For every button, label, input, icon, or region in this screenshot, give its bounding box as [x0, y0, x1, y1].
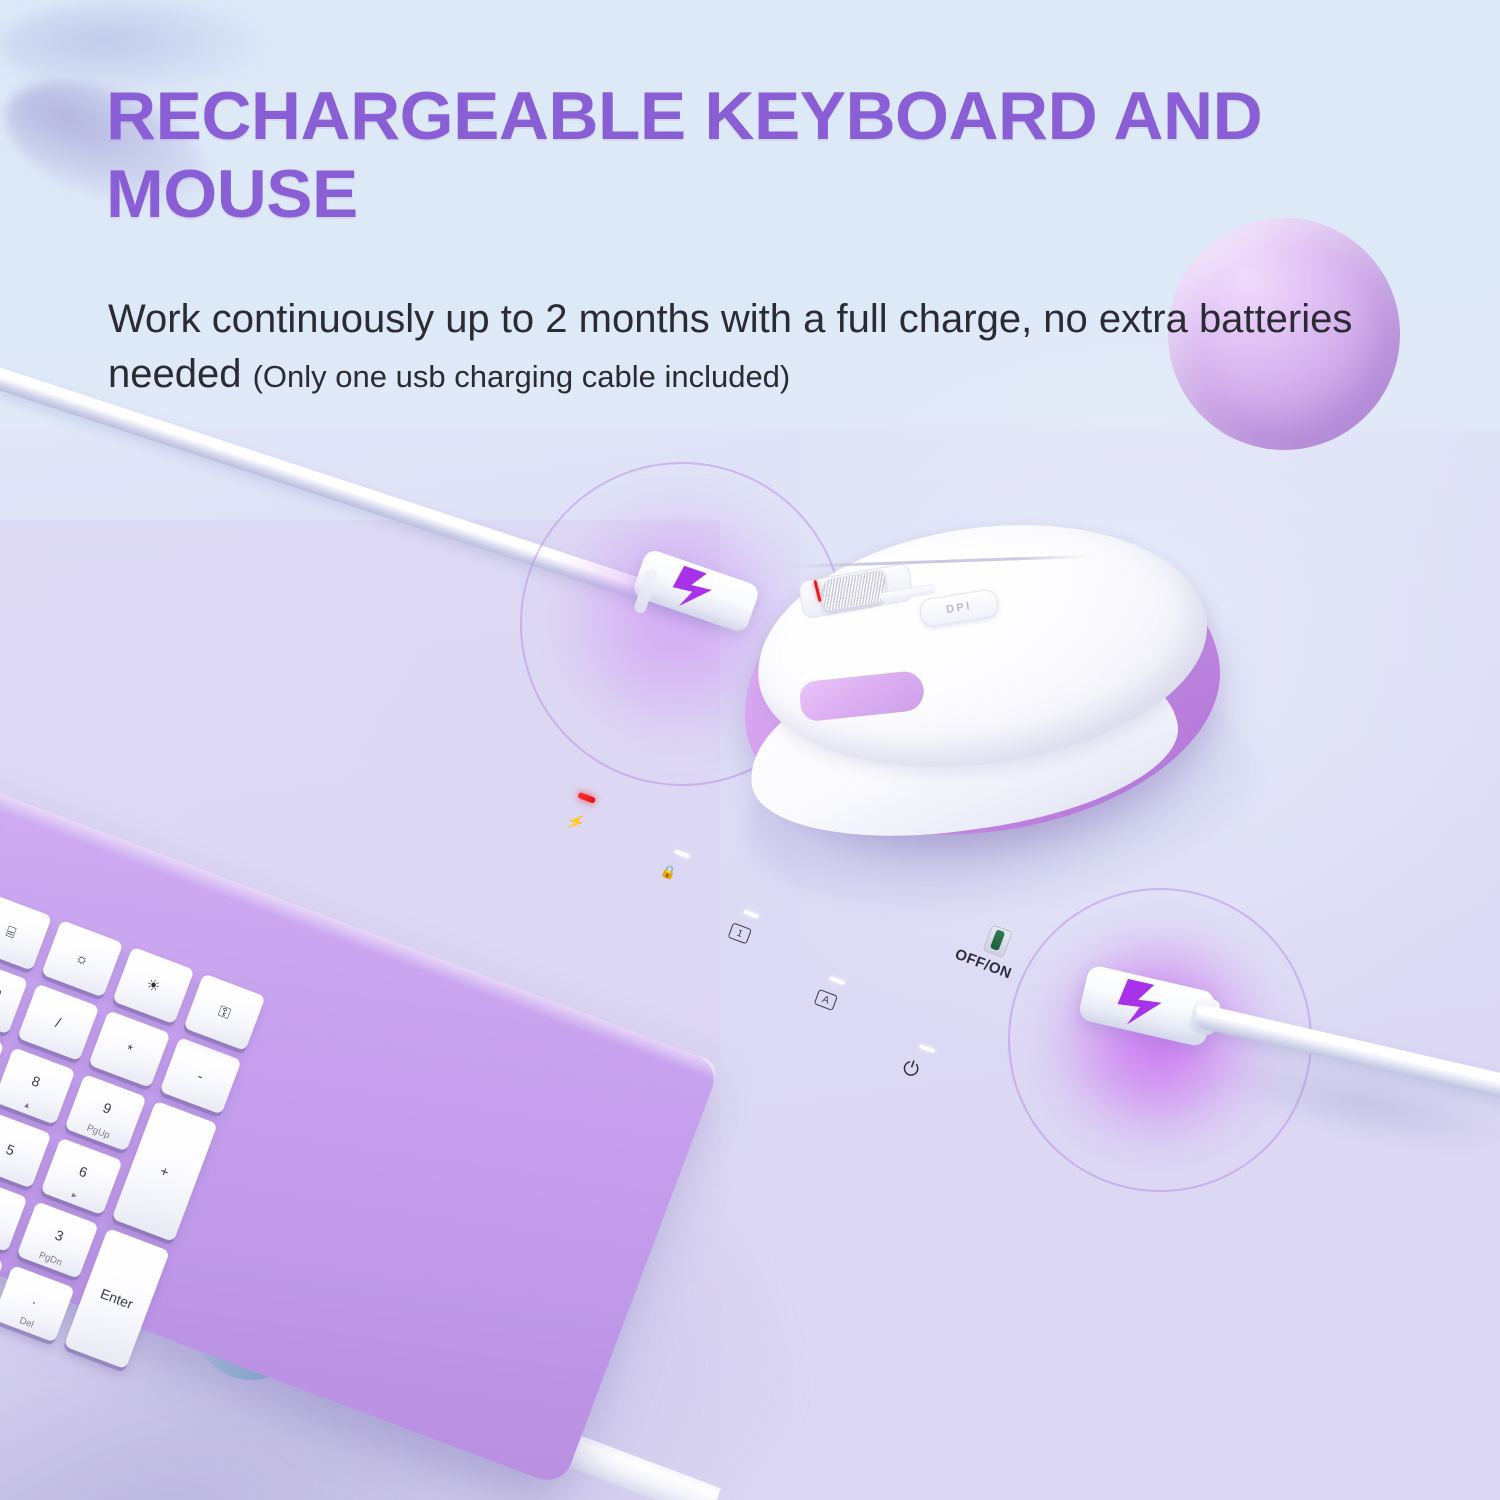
- key-bright-up[interactable]: ☼: [41, 920, 123, 998]
- key-label: *: [124, 1041, 134, 1057]
- key-n5[interactable]: 5: [0, 1111, 52, 1189]
- key-nminus[interactable]: -: [159, 1037, 241, 1115]
- key-n9[interactable]: 9PgUp: [64, 1074, 146, 1152]
- key-nstar[interactable]: *: [88, 1010, 170, 1088]
- key-nslash[interactable]: /: [17, 984, 99, 1062]
- key-label: 6: [77, 1163, 89, 1179]
- key-bright-dn[interactable]: ☀: [112, 947, 194, 1025]
- key-label: -: [196, 1068, 206, 1083]
- page-title: RECHARGEABLE KEYBOARD AND MOUSE: [106, 78, 1432, 233]
- key-calc[interactable]: ⌸: [0, 893, 52, 971]
- key-label: 5: [4, 1141, 16, 1157]
- key-label: Enter: [99, 1286, 135, 1312]
- product-banner: RECHARGEABLE KEYBOARD AND MOUSE Work con…: [0, 0, 1500, 1500]
- key-icon-bright-dn: ☀: [144, 975, 163, 997]
- key-label: /: [54, 1015, 63, 1030]
- key-lockscreen[interactable]: ⚿: [183, 973, 265, 1051]
- key-n3[interactable]: 3PgDn: [17, 1201, 99, 1279]
- key-label: 3: [53, 1227, 65, 1243]
- key-sublabel: ▾: [0, 1216, 12, 1250]
- keyboard: ✉F9☐F10□F11⚙F12⌨PrtScnScrLkPause)0_-+=Ba…: [0, 548, 1130, 1428]
- key-n8[interactable]: 8▴: [0, 1047, 75, 1125]
- subtitle-note: (Only one usb charging cable included): [253, 359, 791, 394]
- key-icon-lockscreen: ⚿: [216, 1002, 233, 1022]
- key-label: +: [158, 1163, 171, 1180]
- key-label: .: [31, 1291, 40, 1306]
- key-sublabel: ▴: [0, 1088, 60, 1122]
- key-label: Num Lock: [0, 979, 3, 1011]
- key-label: 9: [101, 1100, 113, 1116]
- key-n6[interactable]: 6▸: [40, 1138, 122, 1216]
- subtitle: Work continuously up to 2 months with a …: [108, 292, 1448, 402]
- key-icon-bright-up: ☼: [73, 948, 92, 969]
- key-icon-calc: ⌸: [4, 922, 18, 941]
- key-label: 8: [30, 1073, 42, 1089]
